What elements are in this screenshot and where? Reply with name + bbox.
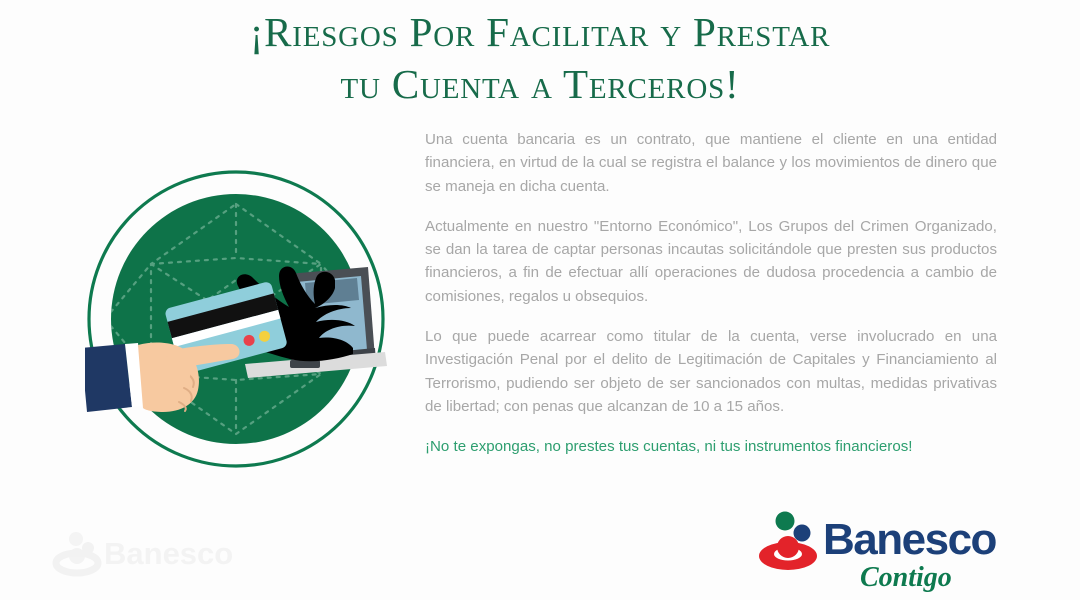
paragraph-3: Lo que puede acarrear como titular de la… <box>425 325 997 418</box>
banesco-tagline: Contigo <box>860 562 952 592</box>
poster-canvas: ¡Riesgos Por Facilitar y Prestar tu Cuen… <box>0 0 1080 600</box>
title-line-1: ¡Riesgos Por Facilitar y Prestar <box>0 6 1080 58</box>
body-text-column: Una cuenta bancaria es un contrato, que … <box>425 128 997 459</box>
banesco-logo-mark <box>759 512 817 571</box>
call-to-action-text: ¡No te expongas, no prestes tus cuentas,… <box>425 435 997 458</box>
banesco-wordmark: Banesco <box>823 515 997 564</box>
paragraph-2: Actualmente en nuestro "Entorno Económic… <box>425 215 997 308</box>
card-handover-illustration <box>85 168 387 470</box>
logo-green-circle <box>776 512 795 531</box>
title-line-2: tu Cuenta a Terceros! <box>0 58 1080 110</box>
banesco-logo: Banesco Contigo <box>757 506 1005 592</box>
watermark-mark <box>56 532 98 573</box>
logo-navy-circle <box>794 525 811 542</box>
page-title: ¡Riesgos Por Facilitar y Prestar tu Cuen… <box>0 6 1080 110</box>
logo-red-circle <box>777 536 799 558</box>
watermark-wordmark: Banesco <box>104 536 232 571</box>
paragraph-1: Una cuenta bancaria es un contrato, que … <box>425 128 997 198</box>
banesco-watermark-logo: Banesco <box>52 528 232 582</box>
